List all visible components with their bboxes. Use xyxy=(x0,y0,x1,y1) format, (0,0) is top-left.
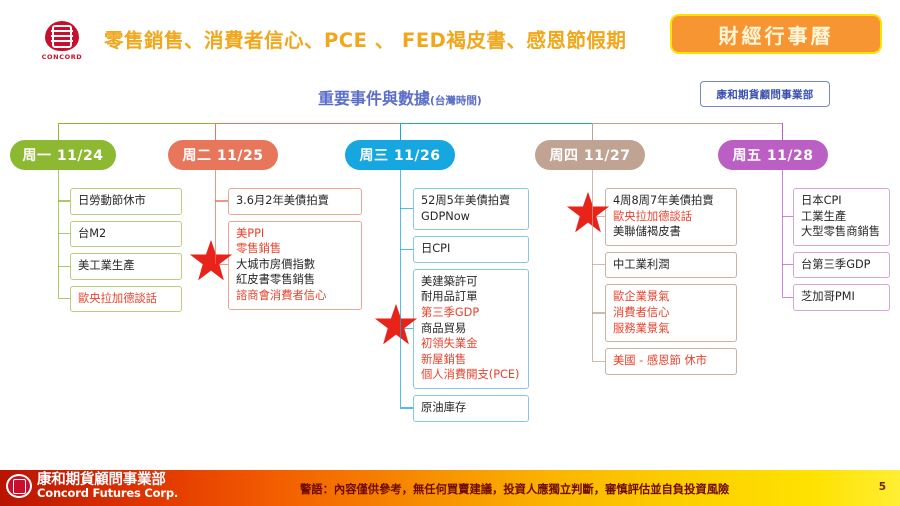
event-line: 個人消費開支(PCE) xyxy=(421,367,521,383)
event-line: 零售銷售 xyxy=(236,241,354,257)
event-line: 新屋銷售 xyxy=(421,352,521,368)
event-box[interactable]: 美工業生產 xyxy=(70,253,182,280)
day-pill-wed[interactable]: 周三 11/26 xyxy=(345,140,455,170)
event-box[interactable]: 日本CPI工業生產大型零售商銷售 xyxy=(793,188,890,246)
event-line: 美PPI xyxy=(236,226,354,242)
calendar-badge: 財經行事曆 xyxy=(670,14,882,54)
footer-warning-text: 警語：內容僅供參考，無任何買賣建議，投資人應獨立判斷，審慎評估並自負投資風險 xyxy=(300,481,729,497)
event-line: 歐央拉加德談話 xyxy=(613,209,729,225)
event-box[interactable]: 中工業利潤 xyxy=(605,252,737,279)
event-box[interactable]: 3.6月2年美債拍賣 xyxy=(228,188,362,215)
event-box[interactable]: 歐央拉加德談話 xyxy=(70,286,182,313)
event-line: 大型零售商銷售 xyxy=(801,224,882,240)
branch-connector xyxy=(400,208,413,209)
branch-connector xyxy=(592,361,605,362)
event-box[interactable]: 52周5年美債拍賣GDPNow xyxy=(413,188,529,230)
branch-connector xyxy=(58,298,70,299)
day-pill-fri[interactable]: 周五 11/28 xyxy=(718,140,828,170)
event-line: 日CPI xyxy=(421,241,521,257)
event-line: 消費者信心 xyxy=(613,305,729,321)
page-number: 5 xyxy=(879,481,886,493)
event-line: 美工業生產 xyxy=(78,258,174,274)
bus-connector-mon xyxy=(58,123,215,124)
event-line: 耐用品訂單 xyxy=(421,289,521,305)
concord-emblem-icon-footer xyxy=(6,474,32,498)
event-line: 商品貿易 xyxy=(421,321,521,337)
event-line: 工業生產 xyxy=(801,209,882,225)
branch-connector xyxy=(400,407,413,408)
dept-badge: 康和期貨顧問事業部 xyxy=(700,81,830,107)
footer-logo: 康和期貨顧問事業部 Concord Futures Corp. xyxy=(6,473,178,500)
event-line: 原油庫存 xyxy=(421,400,521,416)
event-line: 美建築許可 xyxy=(421,274,521,290)
event-line: 美國 - 感恩節 休市 xyxy=(613,353,729,369)
page-title: 零售銷售、消費者信心、PCE 、 FED褐皮書、感恩節假期 xyxy=(104,24,626,53)
event-line: 日本CPI xyxy=(801,193,882,209)
event-line: 服務業景氣 xyxy=(613,321,729,337)
event-line: 大城市房價指數 xyxy=(236,257,354,273)
concord-logo: CONCORD xyxy=(38,18,86,64)
event-box[interactable]: 4周8周7年美債拍賣歐央拉加德談話美聯儲褐皮書 xyxy=(605,188,737,246)
event-box[interactable]: 日勞動節休市 xyxy=(70,188,182,215)
bus-connector-thu xyxy=(592,123,782,124)
section-title-sub: (台灣時間) xyxy=(430,95,482,107)
event-line: 芝加哥PMI xyxy=(801,289,882,305)
highlight-star-icon xyxy=(373,302,419,352)
highlight-star-icon xyxy=(565,190,611,240)
branch-connector xyxy=(215,200,228,201)
concord-logo-text: CONCORD xyxy=(42,53,83,61)
event-box[interactable]: 芝加哥PMI xyxy=(793,284,890,311)
day-pill-thu[interactable]: 周四 11/27 xyxy=(535,140,645,170)
event-box[interactable]: 原油庫存 xyxy=(413,395,529,422)
event-box[interactable]: 日CPI xyxy=(413,236,529,263)
event-line: 台M2 xyxy=(78,226,174,242)
branch-connector xyxy=(782,216,793,217)
event-box[interactable]: 台M2 xyxy=(70,221,182,248)
trunk-connector-tue xyxy=(215,170,216,264)
branch-connector xyxy=(782,264,793,265)
event-box[interactable]: 美建築許可耐用品訂單第三季GDP商品貿易初領失業金新屋銷售個人消費開支(PCE) xyxy=(413,269,529,389)
event-line: 歐企業景氣 xyxy=(613,289,729,305)
branch-connector xyxy=(592,264,605,265)
event-line: 4周8周7年美債拍賣 xyxy=(613,193,729,209)
event-line: 3.6月2年美債拍賣 xyxy=(236,193,354,209)
section-title-main: 重要事件與數據 xyxy=(318,89,430,108)
branch-connector xyxy=(58,266,70,267)
branch-connector xyxy=(400,249,413,250)
event-line: 美聯儲褐皮書 xyxy=(613,224,729,240)
event-line: 日勞動節休市 xyxy=(78,193,174,209)
footer-company-en: Concord Futures Corp. xyxy=(37,488,178,500)
trunk-connector-wed xyxy=(400,170,401,407)
event-box[interactable]: 歐企業景氣消費者信心服務業景氣 xyxy=(605,284,737,342)
event-line: 歐央拉加德談話 xyxy=(78,291,174,307)
event-line: 諮商會消費者信心 xyxy=(236,288,354,304)
event-line: 台第三季GDP xyxy=(801,257,882,273)
trunk-connector-mon xyxy=(58,170,59,298)
branch-connector xyxy=(782,297,793,298)
day-pill-tue[interactable]: 周二 11/25 xyxy=(168,140,278,170)
highlight-star-icon xyxy=(188,238,234,288)
event-box[interactable]: 美PPI零售銷售大城市房價指數紅皮書零售銷售諮商會消費者信心 xyxy=(228,221,362,310)
event-line: GDPNow xyxy=(421,209,521,225)
bus-connector-tue xyxy=(215,123,400,124)
trunk-connector-fri xyxy=(782,170,783,297)
branch-connector xyxy=(58,233,70,234)
footer-bar: 康和期貨顧問事業部 Concord Futures Corp. 警語：內容僅供參… xyxy=(0,470,900,506)
trunk-connector-thu xyxy=(592,170,593,361)
day-pill-mon[interactable]: 周一 11/24 xyxy=(10,140,116,170)
event-line: 紅皮書零售銷售 xyxy=(236,272,354,288)
branch-connector xyxy=(58,200,70,201)
slide-canvas: CONCORD 零售銷售、消費者信心、PCE 、 FED褐皮書、感恩節假期 財經… xyxy=(0,0,900,506)
event-box[interactable]: 美國 - 感恩節 休市 xyxy=(605,348,737,375)
branch-connector xyxy=(592,312,605,313)
event-line: 52周5年美債拍賣 xyxy=(421,193,521,209)
event-line: 第三季GDP xyxy=(421,305,521,321)
event-box[interactable]: 台第三季GDP xyxy=(793,252,890,279)
event-line: 初領失業金 xyxy=(421,336,521,352)
concord-emblem-icon xyxy=(45,21,79,51)
bus-connector-wed xyxy=(400,123,592,124)
section-title: 重要事件與數據(台灣時間) xyxy=(318,85,482,109)
event-line: 中工業利潤 xyxy=(613,257,729,273)
